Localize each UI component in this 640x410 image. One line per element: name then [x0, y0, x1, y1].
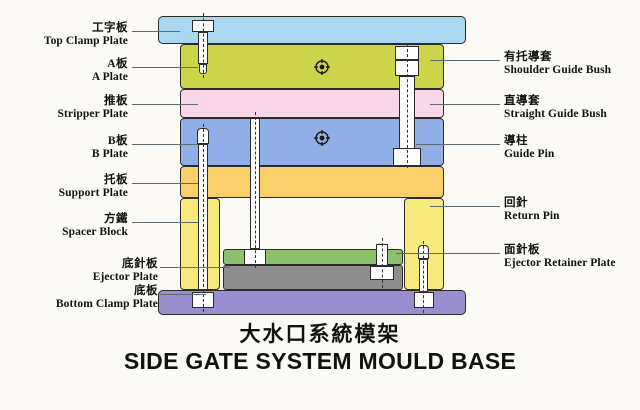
label-ejector-plate: 底針板 Ejector Plate — [8, 258, 158, 284]
leader-guide-pin — [416, 144, 500, 145]
label-a-plate-cn: A板 — [8, 58, 128, 71]
label-return-pin-cn: 回針 — [504, 197, 638, 210]
label-support-plate-en: Support Plate — [8, 187, 128, 200]
label-bottom-clamp-plate: 底板 Bottom Clamp Plate — [2, 285, 158, 311]
diagram-root: 工字板 Top Clamp Plate A板 A Plate 推板 Stripp… — [0, 0, 640, 410]
leader-top-clamp-plate — [132, 31, 180, 32]
diagram-title-en: SIDE GATE SYSTEM MOULD BASE — [0, 348, 640, 375]
label-spacer-block-cn: 方鐵 — [8, 213, 128, 226]
label-b-plate-cn: B板 — [8, 135, 128, 148]
label-a-plate: A板 A Plate — [8, 58, 128, 84]
leader-ejector-retainer-plate — [396, 253, 500, 254]
label-stripper-plate-cn: 推板 — [8, 95, 128, 108]
label-a-plate-en: A Plate — [8, 71, 128, 84]
leader-support-plate — [132, 183, 198, 184]
label-guide-pin-cn: 導柱 — [504, 135, 638, 148]
leader-b-plate — [132, 144, 198, 145]
label-ejector-retainer-plate: 面針板 Ejector Retainer Plate — [504, 244, 640, 270]
label-top-clamp-plate-en: Top Clamp Plate — [8, 35, 128, 48]
label-return-pin: 回針 Return Pin — [504, 197, 638, 223]
label-ejector-plate-en: Ejector Plate — [8, 271, 158, 284]
diagram-title-cn: 大水口系統模架 — [0, 318, 640, 348]
label-straight-guide-bush-en: Straight Guide Bush — [504, 108, 638, 121]
label-stripper-plate-en: Stripper Plate — [8, 108, 128, 121]
label-stripper-plate: 推板 Stripper Plate — [8, 95, 128, 121]
diagram-title: 大水口系統模架 SIDE GATE SYSTEM MOULD BASE — [0, 318, 640, 375]
return-pin-foot-right — [414, 292, 434, 308]
label-support-plate-cn: 托板 — [8, 174, 128, 187]
label-bottom-clamp-plate-en: Bottom Clamp Plate — [2, 298, 158, 311]
leader-shoulder-guide-bush — [430, 60, 500, 61]
label-shoulder-guide-bush: 有托導套 Shoulder Guide Bush — [504, 51, 638, 77]
plate-support — [180, 166, 444, 198]
label-spacer-block-en: Spacer Block — [8, 226, 128, 239]
leader-stripper-plate — [132, 104, 198, 105]
ejector-pin-centerline — [255, 112, 256, 268]
eyebolt-target-a-plate — [314, 59, 330, 75]
cap-screw-centerline — [203, 13, 204, 78]
label-b-plate: B板 B Plate — [8, 135, 128, 161]
label-support-plate: 托板 Support Plate — [8, 174, 128, 200]
label-straight-guide-bush-cn: 直導套 — [504, 95, 638, 108]
label-spacer-block: 方鐵 Spacer Block — [8, 213, 128, 239]
label-return-pin-en: Return Pin — [504, 210, 638, 223]
label-b-plate-en: B Plate — [8, 148, 128, 161]
label-guide-pin-en: Guide Pin — [504, 148, 638, 161]
label-ejector-plate-cn: 底針板 — [8, 258, 158, 271]
leader-ejector-plate — [160, 267, 230, 268]
leader-spacer-block — [132, 222, 198, 223]
return-pin-centerline-right — [423, 241, 424, 313]
leader-a-plate — [132, 67, 198, 68]
label-straight-guide-bush: 直導套 Straight Guide Bush — [504, 95, 638, 121]
label-ejector-retainer-plate-en: Ejector Retainer Plate — [504, 257, 640, 270]
label-top-clamp-plate-cn: 工字板 — [8, 22, 128, 35]
label-bottom-clamp-plate-cn: 底板 — [2, 285, 158, 298]
leader-bottom-clamp-plate — [160, 294, 206, 295]
label-shoulder-guide-bush-en: Shoulder Guide Bush — [504, 64, 638, 77]
label-ejector-retainer-plate-cn: 面針板 — [504, 244, 640, 257]
ejector-screw-centerline — [382, 238, 383, 288]
leader-return-pin — [430, 206, 500, 207]
return-pin-centerline-left — [203, 124, 204, 312]
label-top-clamp-plate: 工字板 Top Clamp Plate — [8, 22, 128, 48]
eyebolt-target-b-plate — [314, 130, 330, 146]
guide-pin-centerline — [407, 44, 408, 168]
label-guide-pin: 導柱 Guide Pin — [504, 135, 638, 161]
label-shoulder-guide-bush-cn: 有托導套 — [504, 51, 638, 64]
leader-straight-guide-bush — [430, 104, 500, 105]
